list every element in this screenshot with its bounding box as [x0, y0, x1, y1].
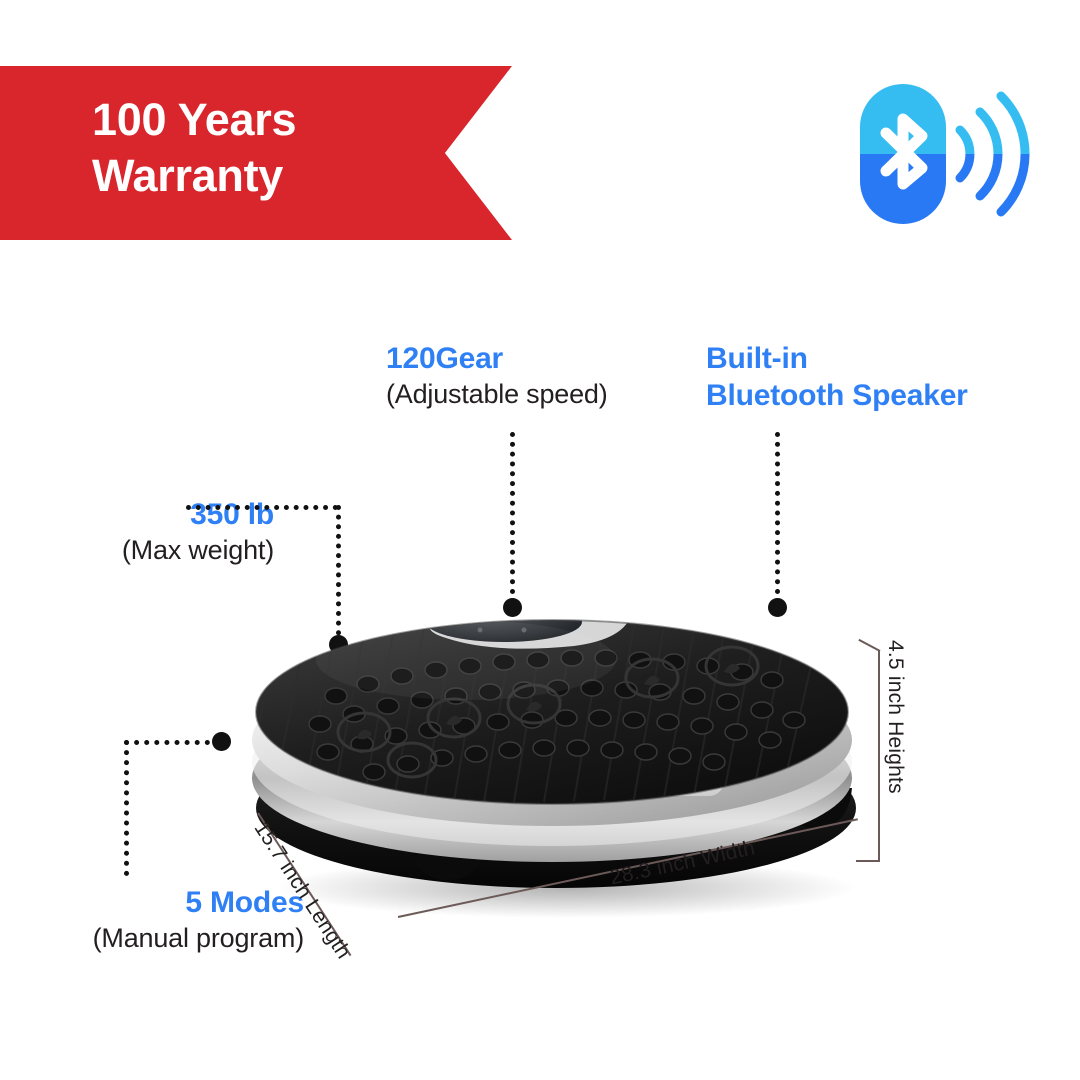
callout-gear: 120Gear (Adjustable speed)	[386, 341, 608, 411]
product-image-vibration-plate: eilison	[216, 600, 896, 930]
callout-max-weight: 350 lb (Max weight)	[0, 497, 282, 567]
callout-bluetooth-speaker-headline: Built-in Bluetooth Speaker	[706, 341, 968, 414]
dimension-line-height	[878, 650, 880, 862]
leader-line-bluetooth-speaker	[770, 432, 800, 622]
callout-gear-subtext: (Adjustable speed)	[386, 378, 608, 411]
leader-segment	[124, 740, 220, 745]
warranty-text: 100 Years Warranty	[92, 92, 296, 205]
leader-segment	[775, 432, 780, 604]
dimension-label-height: 4.5 inch Heights	[885, 640, 906, 794]
warranty-ribbon: 100 Years Warranty	[0, 66, 512, 240]
dimension-tick-height-bottom	[856, 860, 880, 862]
callout-max-weight-subtext: (Max weight)	[0, 534, 282, 567]
callout-max-weight-headline: 350 lb	[0, 497, 282, 534]
callout-bluetooth-speaker: Built-in Bluetooth Speaker	[706, 341, 968, 414]
leader-segment	[124, 740, 129, 876]
leader-segment	[510, 432, 515, 604]
leader-line-gear	[505, 432, 535, 622]
callout-gear-headline: 120Gear	[386, 341, 608, 378]
bluetooth-wireless-icon	[856, 78, 1052, 230]
